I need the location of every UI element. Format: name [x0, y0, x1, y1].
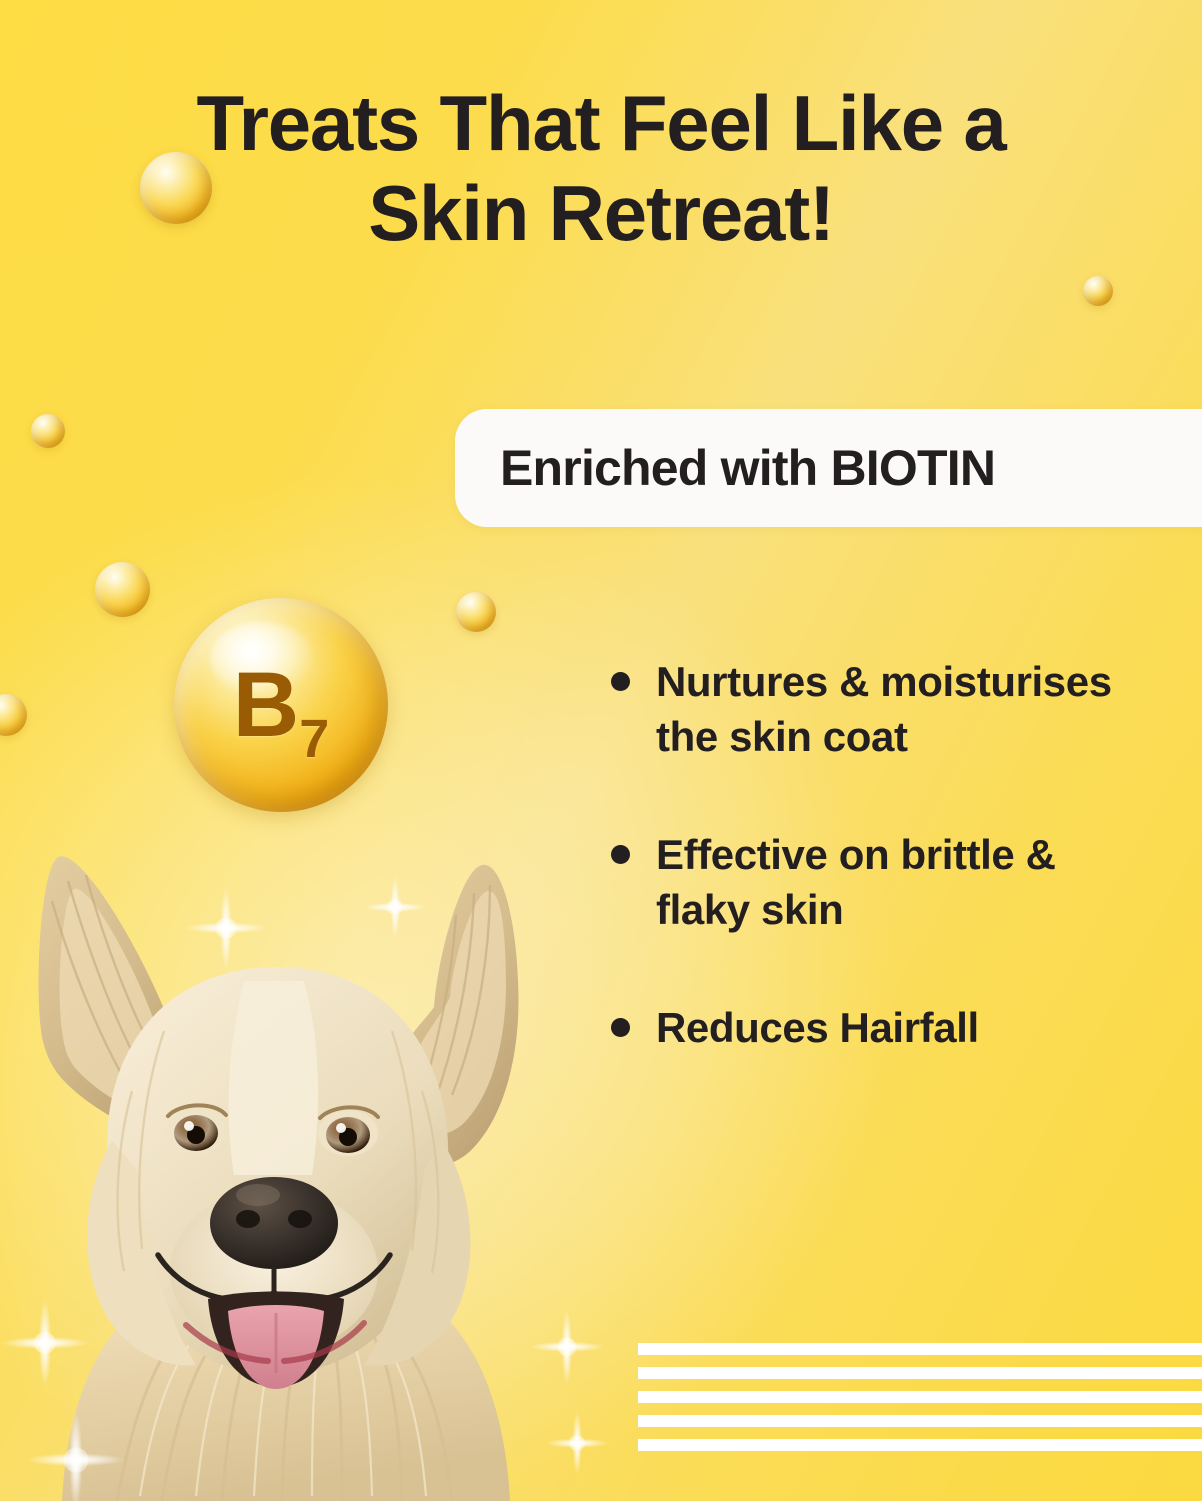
page-title: Treats That Feel Like a Skin Retreat!: [0, 78, 1202, 259]
list-item: Nurtures & moisturises the skin coat: [608, 655, 1183, 764]
capsule-label: B 7: [174, 598, 388, 812]
stripe-line: [638, 1343, 1202, 1355]
capsule-subscript: 7: [299, 712, 329, 766]
vitamin-b7-capsule-icon: B 7: [174, 598, 388, 812]
gold-droplet-icon: [0, 694, 27, 736]
stripe-decoration: [638, 1343, 1202, 1451]
stripe-line: [638, 1391, 1202, 1403]
gold-droplet-icon: [456, 592, 496, 632]
biotin-banner: Enriched with BIOTIN: [455, 409, 1202, 527]
dog-photo: [0, 841, 582, 1501]
list-item: Reduces Hairfall: [608, 1001, 1183, 1056]
benefit-line-2: the skin coat: [656, 710, 1183, 765]
biotin-banner-label: Enriched with BIOTIN: [455, 439, 995, 497]
gold-droplet-icon: [95, 562, 150, 617]
benefits-list: Nurtures & moisturises the skin coat Eff…: [608, 655, 1183, 1056]
bullet-dot-icon: [611, 672, 630, 691]
gold-droplet-icon: [1083, 276, 1113, 306]
bullet-dot-icon: [611, 1018, 630, 1037]
benefit-line-1: Effective on brittle &: [656, 828, 1183, 883]
stripe-line: [638, 1439, 1202, 1451]
stripe-line: [638, 1367, 1202, 1379]
benefit-line-2: flaky skin: [656, 883, 1183, 938]
benefit-line-1: Nurtures & moisturises: [656, 655, 1183, 710]
list-item: Effective on brittle & flaky skin: [608, 828, 1183, 937]
capsule-letter: B: [233, 659, 297, 751]
bullet-dot-icon: [611, 845, 630, 864]
benefit-line-1: Reduces Hairfall: [656, 1001, 1183, 1056]
headline-line-1: Treats That Feel Like a: [0, 78, 1202, 168]
headline-line-2: Skin Retreat!: [0, 168, 1202, 258]
stripe-line: [638, 1415, 1202, 1427]
gold-droplet-icon: [31, 414, 65, 448]
promo-poster: Treats That Feel Like a Skin Retreat! En…: [0, 0, 1202, 1501]
